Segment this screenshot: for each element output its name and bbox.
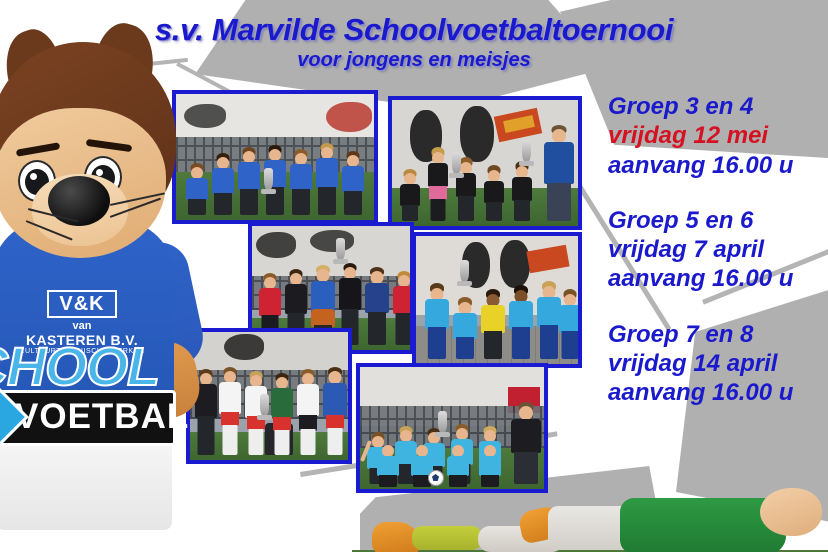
- schedule-block-groep-7-8: Groep 7 en 8 vrijdag 14 april aanvang 16…: [608, 320, 828, 408]
- photo-person: [392, 271, 410, 345]
- photo-person: [210, 153, 236, 215]
- keeper-head: [760, 488, 822, 536]
- photo-team-lightblue[interactable]: [412, 232, 582, 368]
- photo-girls-black-trophy[interactable]: [388, 96, 582, 230]
- photo-coach: [542, 125, 576, 221]
- photo-person: [558, 289, 578, 359]
- photo-person: [424, 283, 450, 359]
- photo-trophy: [336, 238, 345, 260]
- photo-graffiti: [326, 102, 372, 132]
- schedule-block-groep-3-4: Groep 3 en 4 vrijdag 12 mei aanvang 16.0…: [608, 92, 828, 180]
- logo-school-text: SCHOOL: [0, 336, 159, 398]
- logo-voetbal-text: VOETBAL: [15, 397, 189, 437]
- poster-canvas: s.v. Marvilde Schoolvoetbaltoernooi voor…: [0, 0, 828, 552]
- photo-trophy: [522, 140, 531, 162]
- mascot-nose: [48, 176, 110, 226]
- photo-person: [482, 165, 506, 221]
- photo-scene: [176, 94, 374, 220]
- photo-graffiti: [310, 230, 354, 252]
- photo-tyre: [500, 240, 530, 288]
- photo-trophy: [438, 411, 447, 433]
- photo-person: [270, 373, 294, 455]
- sponsor-van-text: van: [0, 320, 164, 332]
- keeper-sock: [412, 526, 482, 550]
- schedule-time-label: aanvang 16.00 u: [608, 378, 828, 407]
- photo-trophy: [260, 394, 269, 416]
- schedule-time-label: aanvang 16.00 u: [608, 151, 828, 180]
- schedule-date-label: vrijdag 12 mei: [608, 121, 828, 150]
- photo-trophy: [264, 168, 273, 190]
- photo-person: [236, 147, 262, 215]
- schedule-group-label: Groep 7 en 8: [608, 320, 828, 349]
- schedule-time-label: aanvang 16.00 u: [608, 264, 828, 293]
- goalkeeper-lying: [352, 472, 828, 552]
- schedule-date-label: vrijdag 14 april: [608, 349, 828, 378]
- schedule-list: Groep 3 en 4 vrijdag 12 mei aanvang 16.0…: [608, 92, 828, 433]
- photo-trophy: [452, 152, 461, 174]
- photo-person: [340, 151, 366, 215]
- photo-person: [218, 367, 242, 455]
- photo-graffiti: [224, 334, 264, 360]
- photo-person: [510, 161, 534, 221]
- photo-person: [508, 285, 534, 359]
- photo-person: [364, 267, 390, 345]
- photo-scene: [392, 100, 578, 226]
- schedule-group-label: Groep 5 en 6: [608, 206, 828, 235]
- photo-trophy: [460, 260, 469, 282]
- photo-team-blue-trophy[interactable]: [172, 90, 378, 224]
- photo-person: [322, 367, 348, 455]
- schedule-group-label: Groep 3 en 4: [608, 92, 828, 121]
- photo-person: [452, 297, 478, 359]
- photo-person: [426, 147, 450, 221]
- schoolvoetbal-logo: SCHOOL VOETBAL ♛ KNVB: [0, 336, 178, 456]
- photo-scene: [416, 236, 578, 364]
- photo-scene: [360, 367, 544, 489]
- photo-graffiti: [256, 232, 296, 258]
- photo-person: [296, 369, 320, 455]
- photo-person: [480, 289, 506, 359]
- photo-person: [398, 169, 422, 221]
- sponsor-logo-text: V&K: [47, 290, 116, 318]
- photo-scene: [190, 332, 348, 460]
- schedule-block-groep-5-6: Groep 5 en 6 vrijdag 7 april aanvang 16.…: [608, 206, 828, 294]
- photo-person: [314, 143, 340, 215]
- schedule-date-label: vrijdag 7 april: [608, 235, 828, 264]
- photo-team-white-red[interactable]: [186, 328, 352, 464]
- photo-person: [288, 149, 314, 215]
- photo-tyre: [460, 106, 494, 162]
